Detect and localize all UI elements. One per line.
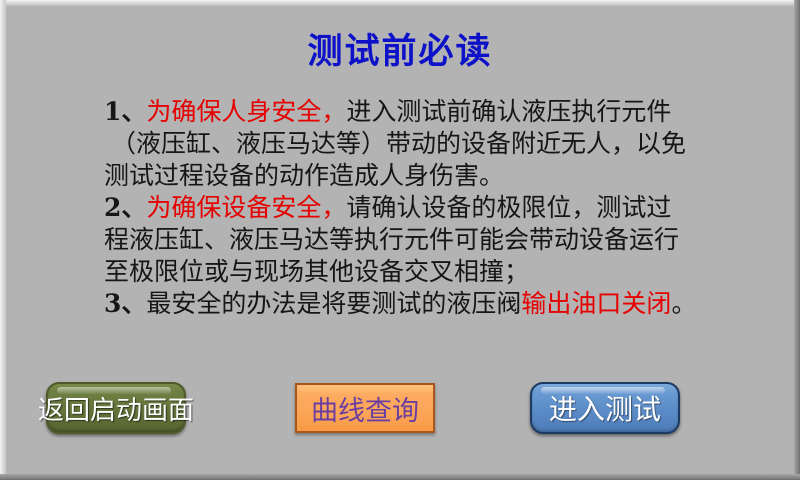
notice-highlight-text: 为确保设备安全， (146, 193, 346, 222)
page-title: 测试前必读 (0, 32, 800, 72)
curve-query-button[interactable]: 曲线查询 (295, 383, 435, 433)
notice-text: 1、 (104, 97, 146, 126)
frame-bevel-top (0, 0, 800, 6)
notice-highlight-text: 输出油口关闭 (521, 289, 671, 318)
curve-query-label: 曲线查询 (311, 389, 419, 428)
notice-text: （液压缸、液压马达等）带动的设备附近无人，以免 (111, 129, 686, 158)
notice-line: 1、为确保人身安全，进入测试前确认液压执行元件 (104, 96, 710, 128)
notice-line: 至极限位或与现场其他设备交叉相撞； (104, 256, 710, 288)
notice-text: 请确认设备的极限位，测试过 (346, 193, 671, 222)
notice-line: 测试过程设备的动作造成人身伤害。 (104, 160, 710, 192)
notice-text: 。 (671, 289, 696, 318)
enter-test-label: 进入测试 (549, 388, 661, 428)
return-to-start-screen-label: 返回启动画面 (38, 390, 194, 427)
notice-text: 进入测试前确认液压执行元件 (346, 97, 671, 126)
notice-text: 至极限位或与现场其他设备交叉相撞； (104, 257, 529, 286)
frame-bevel-bottom (0, 474, 800, 480)
notice-line: 程液压缸、液压马达等执行元件可能会带动设备运行 (104, 224, 710, 256)
notice-line: 3、最安全的办法是将要测试的液压阀输出油口关闭。 (104, 288, 710, 320)
notice-text: 测试过程设备的动作造成人身伤害。 (104, 161, 504, 190)
enter-test-button[interactable]: 进入测试 (530, 382, 680, 434)
return-to-start-screen-button[interactable]: 返回启动画面 (46, 382, 186, 434)
notice-text: 2、 (104, 193, 146, 222)
safety-notice-text: 1、为确保人身安全，进入测试前确认液压执行元件（液压缸、液压马达等）带动的设备附… (104, 96, 710, 320)
notice-text: 最安全的办法是将要测试的液压阀 (146, 289, 521, 318)
notice-text: 程液压缸、液压马达等执行元件可能会带动设备运行 (104, 225, 679, 254)
notice-highlight-text: 为确保人身安全， (146, 97, 346, 126)
notice-text: 3、 (104, 289, 146, 318)
hmi-screen: 测试前必读 1、为确保人身安全，进入测试前确认液压执行元件（液压缸、液压马达等）… (0, 0, 800, 480)
notice-line: （液压缸、液压马达等）带动的设备附近无人，以免 (104, 128, 710, 160)
notice-line: 2、为确保设备安全，请确认设备的极限位，测试过 (104, 192, 710, 224)
button-bar: 返回启动画面 曲线查询 进入测试 (0, 378, 800, 442)
